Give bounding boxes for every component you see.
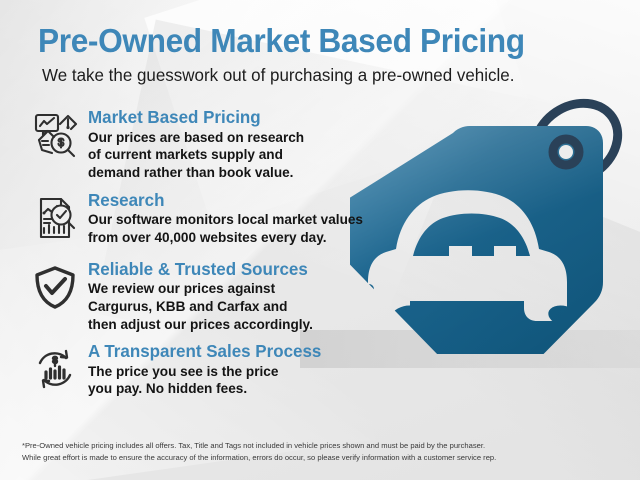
disclaimer-text: *Pre-Owned vehicle pricing includes all … [22, 440, 626, 464]
feature-text-line: Our prices are based on research [88, 129, 406, 147]
feature-item-reliable-trusted-sources: Reliable & Trusted Sources We review our… [26, 260, 406, 334]
feature-text: Our prices are based on research of curr… [88, 129, 406, 182]
feature-body: Market Based Pricing Our prices are base… [88, 108, 406, 182]
feature-title: Reliable & Trusted Sources [88, 260, 396, 280]
feature-text-line: demand rather than book value. [88, 164, 406, 182]
feature-item-market-based-pricing: Market Based Pricing Our prices are base… [26, 108, 406, 182]
feature-text-line: Our software monitors local market value… [88, 211, 406, 229]
header: Pre-Owned Market Based Pricing We take t… [38, 24, 618, 85]
feature-text: We review our prices against Cargurus, K… [88, 280, 406, 333]
feature-body: Research Our software monitors local mar… [88, 191, 406, 247]
feature-text-line: Cargurus, KBB and Carfax and [88, 298, 406, 316]
feature-text-line: We review our prices against [88, 280, 406, 298]
feature-text: Our software monitors local market value… [88, 211, 406, 246]
feature-list: Market Based Pricing Our prices are base… [26, 108, 406, 411]
disclaimer-line: *Pre-Owned vehicle pricing includes all … [22, 440, 626, 452]
shield-check-icon [26, 260, 84, 320]
market-analysis-magnifier-dollar-icon [26, 108, 84, 168]
research-document-magnifier-icon [26, 191, 84, 251]
feature-item-transparent-sales-process: A Transparent Sales Process The price yo… [26, 342, 406, 402]
feature-item-research: Research Our software monitors local mar… [26, 191, 406, 251]
feature-text-line: The price you see is the price [88, 363, 406, 381]
feature-body: Reliable & Trusted Sources We review our… [88, 260, 406, 334]
feature-title: Market Based Pricing [88, 108, 396, 128]
feature-text-line: then adjust our prices accordingly. [88, 316, 406, 334]
page-title: Pre-Owned Market Based Pricing [38, 24, 595, 59]
page-subtitle: We take the guesswork out of purchasing … [42, 65, 601, 85]
feature-body: A Transparent Sales Process The price yo… [88, 342, 406, 398]
feature-title: A Transparent Sales Process [88, 342, 396, 362]
feature-text-line: of current markets supply and [88, 146, 406, 164]
promotional-poster: Pre-Owned Market Based Pricing We take t… [0, 0, 640, 480]
refresh-bar-chart-dollar-icon [26, 342, 84, 402]
disclaimer-line: While great effort is made to ensure the… [22, 452, 626, 464]
feature-text: The price you see is the price you pay. … [88, 363, 406, 398]
feature-title: Research [88, 191, 396, 211]
feature-text-line: from over 40,000 websites every day. [88, 229, 406, 247]
feature-text-line: you pay. No hidden fees. [88, 380, 406, 398]
